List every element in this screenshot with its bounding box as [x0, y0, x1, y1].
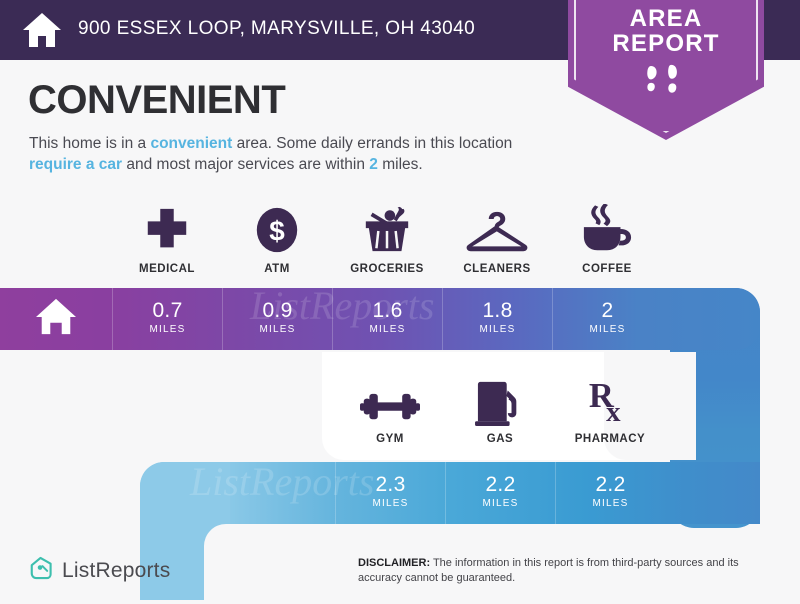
area-report-infographic: 900 ESSEX LOOP, MARYSVILLE, OH 43040 ARE… — [0, 0, 800, 600]
distance-cell-coffee: 2 MILES — [552, 288, 662, 350]
distance-cell-groceries: 1.6 MILES — [332, 288, 442, 350]
bar-home-icon-cell — [0, 288, 112, 350]
distance-unit: MILES — [443, 324, 552, 335]
dumbbell-icon — [335, 368, 445, 426]
summary-highlight-require-car: require a car — [29, 156, 122, 173]
distance-unit: MILES — [446, 498, 555, 509]
listreports-logo-text: ListReports — [62, 559, 170, 583]
distance-value: 1.8 — [443, 288, 552, 321]
category-label: GROCERIES — [332, 263, 442, 275]
badge-title: AREA REPORT — [568, 6, 764, 56]
distance-unit: MILES — [553, 324, 662, 335]
distance-unit: MILES — [113, 324, 222, 335]
summary-text-1: This home is in a — [29, 135, 150, 152]
distance-unit: MILES — [223, 324, 332, 335]
distance-unit: MILES — [336, 498, 445, 509]
disclaimer: DISCLAIMER: The information in this repo… — [358, 556, 778, 586]
category-label: GYM — [335, 433, 445, 445]
home-icon — [22, 11, 62, 49]
svg-text:x: x — [606, 396, 621, 426]
distance-cell-medical: 0.7 MILES — [112, 288, 222, 350]
gas-pump-icon — [445, 368, 555, 426]
distance-value: 2.3 — [336, 462, 445, 495]
dollar-circle-icon: $ — [222, 198, 332, 256]
summary-text-3: and most major services are within — [122, 156, 369, 173]
hanger-icon — [442, 198, 552, 256]
category-cleaners: CLEANERS — [442, 198, 552, 275]
badge-line-1: AREA — [568, 6, 764, 31]
category-groceries: GROCERIES — [332, 198, 442, 275]
property-address: 900 ESSEX LOOP, MARYSVILLE, OH 43040 — [78, 18, 475, 40]
svg-text:$: $ — [269, 216, 285, 247]
distance-cell-atm: 0.9 MILES — [222, 288, 332, 350]
listreports-house-tag-icon — [28, 556, 53, 586]
distance-value: 2 — [553, 288, 662, 321]
category-label: PHARMACY — [555, 433, 665, 445]
category-medical: MEDICAL — [112, 198, 222, 275]
category-label: CLEANERS — [442, 263, 552, 275]
distance-cell-cleaners: 1.8 MILES — [442, 288, 552, 350]
distance-unit: MILES — [556, 498, 665, 509]
bar-notch-bottom-left — [204, 524, 300, 604]
distance-value: 0.9 — [223, 288, 332, 321]
summary-text-4: miles. — [378, 156, 423, 173]
area-report-badge: AREA REPORT — [568, 0, 764, 140]
summary-description: This home is in a convenient area. Some … — [29, 133, 569, 175]
rx-icon: R x — [555, 368, 665, 426]
medical-cross-icon — [112, 198, 222, 256]
category-coffee: COFFEE — [552, 198, 662, 275]
disclaimer-label: DISCLAIMER: — [358, 557, 430, 569]
category-atm: $ ATM — [222, 198, 332, 275]
footprints-icon — [568, 64, 764, 103]
category-label: MEDICAL — [112, 263, 222, 275]
distance-cell-gas: 2.2 MILES — [445, 462, 555, 524]
category-gas: GAS — [445, 368, 555, 445]
category-label: COFFEE — [552, 263, 662, 275]
badge-line-2: REPORT — [568, 31, 764, 56]
distance-cell-gym: 2.3 MILES — [335, 462, 445, 524]
distance-cell-pharmacy: 2.2 MILES — [555, 462, 665, 524]
summary-highlight-miles: 2 — [369, 156, 378, 173]
page-title: CONVENIENT — [28, 78, 285, 123]
category-label: ATM — [222, 263, 332, 275]
distance-unit: MILES — [333, 324, 442, 335]
category-gym: GYM — [335, 368, 445, 445]
distance-value: 2.2 — [446, 462, 555, 495]
distance-value: 1.6 — [333, 288, 442, 321]
distance-value: 2.2 — [556, 462, 665, 495]
category-label: GAS — [445, 433, 555, 445]
home-icon — [34, 297, 78, 342]
summary-text-2: area. Some daily errands in this locatio… — [232, 135, 512, 152]
distance-value: 0.7 — [113, 288, 222, 321]
grocery-basket-icon — [332, 198, 442, 256]
listreports-logo: ListReports — [28, 556, 170, 586]
coffee-cup-icon — [552, 198, 662, 256]
category-pharmacy: R x PHARMACY — [555, 368, 665, 445]
summary-highlight-convenient: convenient — [150, 135, 232, 152]
